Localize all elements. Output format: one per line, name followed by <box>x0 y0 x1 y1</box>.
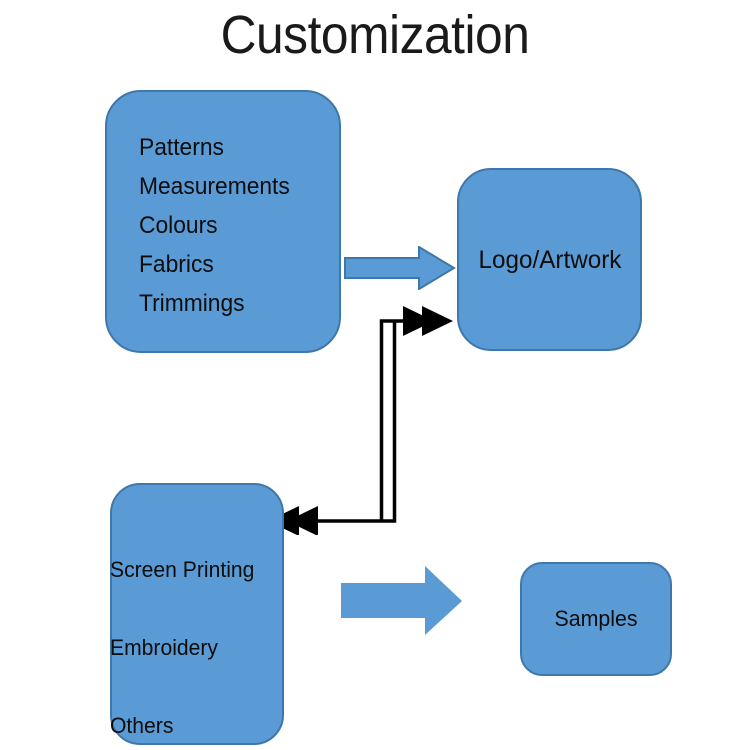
elbow-arrow-up-right-head <box>403 306 453 336</box>
block-arrow-right-icon <box>341 563 463 643</box>
list-item: Screen Printing <box>110 531 360 609</box>
block-arrow-right-icon <box>344 246 456 295</box>
logo-artwork-box[interactable]: Logo/Artwork <box>457 168 642 351</box>
list-item: Embroidery <box>110 609 360 687</box>
decoration-methods-list: Screen Printing Embroidery Others <box>110 531 370 750</box>
connector-group <box>270 295 470 540</box>
list-item: Colours <box>139 206 386 245</box>
samples-box[interactable]: Samples <box>520 562 672 676</box>
list-item: Others <box>110 687 360 750</box>
slide-canvas: Customization Patterns Measurements Colo… <box>0 0 750 750</box>
logo-artwork-label: Logo/Artwork <box>478 245 621 275</box>
decoration-methods-box[interactable]: Screen Printing Embroidery Others <box>110 483 284 745</box>
list-item: Patterns <box>139 128 386 167</box>
samples-label: Samples <box>554 606 637 632</box>
list-item: Measurements <box>139 167 386 206</box>
page-title: Customization <box>30 4 720 66</box>
